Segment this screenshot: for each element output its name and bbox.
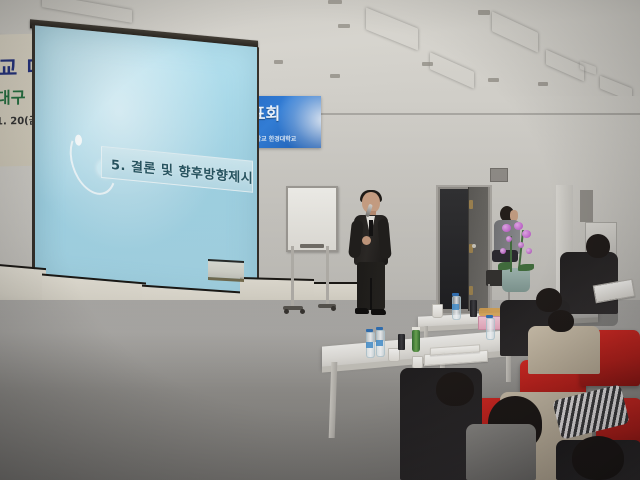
slide-title-band: 5. 결론 및 향후방향제시: [101, 146, 253, 193]
orchid-plant: [492, 222, 540, 292]
paper-cup[interactable]: [432, 304, 443, 318]
door-hinge: [469, 200, 473, 209]
presenter: [348, 192, 392, 324]
bottle-label: [376, 340, 383, 346]
whiteboard[interactable]: [286, 186, 338, 252]
presenter-shoe: [355, 308, 369, 314]
ceiling-vent: [330, 74, 340, 78]
audience-coat: [528, 326, 600, 374]
orchid-flower: [506, 236, 512, 242]
audience-head: [548, 310, 574, 332]
wall-speaker: [490, 168, 508, 182]
orchid-leaf: [518, 264, 534, 271]
presenter-leg-split: [370, 278, 372, 310]
bottle-cap: [376, 327, 383, 330]
door-hinge: [469, 286, 473, 295]
chair-leg: [488, 284, 490, 310]
ceiling-light-fixture: [430, 52, 474, 89]
slide-dot-graphic: [75, 134, 82, 146]
bottle-label: [452, 304, 459, 310]
whiteboard-leg: [291, 246, 294, 308]
audience-head: [536, 288, 562, 312]
bottle-cap: [412, 327, 420, 330]
presenter-shoe: [371, 309, 386, 315]
ceiling-vent: [328, 0, 342, 4]
paper-cup[interactable]: [388, 348, 400, 362]
bottle-cap: [366, 329, 373, 332]
audience-head: [572, 436, 624, 480]
bottle-cap: [486, 315, 493, 318]
door-knob[interactable]: [472, 244, 476, 248]
orchid-leaf: [498, 262, 512, 270]
bottle-cap: [452, 293, 459, 296]
ceiling-vent: [478, 10, 490, 15]
orchid-flower: [500, 248, 506, 254]
ceiling-vent: [338, 24, 350, 28]
presenter-hand: [362, 236, 371, 245]
whiteboard-caster: [331, 306, 336, 311]
ceiling-vent: [488, 78, 499, 82]
dark-can[interactable]: [398, 334, 405, 350]
ceiling-light-fixture: [42, 0, 132, 23]
orchid-flower: [522, 230, 531, 238]
doorway-opening: [440, 189, 470, 309]
whiteboard-marker-tray: [300, 244, 324, 248]
audience-head: [436, 372, 474, 406]
ceiling-light-fixture: [492, 11, 538, 52]
bottle-label: [366, 342, 373, 348]
ceiling-light-fixture: [546, 50, 584, 82]
orchid-flower: [502, 224, 511, 232]
orchid-flower: [518, 242, 524, 248]
whiteboard-caster: [284, 309, 289, 314]
ceiling-vent: [422, 62, 433, 66]
presenter-right-arm: [377, 219, 391, 260]
whiteboard-caster: [300, 309, 305, 314]
plant-pot: [502, 268, 530, 292]
ceiling-vent: [274, 60, 283, 64]
slide-title-text: 5. 결론 및 향후방향제시: [102, 152, 253, 186]
orchid-flower: [526, 248, 532, 254]
whiteboard-leg: [326, 246, 329, 306]
dark-can[interactable]: [470, 300, 477, 317]
audience-coat: [466, 424, 536, 480]
water-bottle[interactable]: [486, 318, 495, 340]
ceiling-vent: [538, 82, 548, 86]
baseboard-heater: [208, 259, 244, 282]
orchid-flower: [514, 222, 523, 230]
presenter-necktie: [369, 220, 373, 236]
wall-panel: [580, 190, 593, 222]
conference-room-photo: 교 대 대구 · 1. 20(금) 1 발표회 표회 대구대학교 한경대학교 5…: [0, 0, 640, 480]
green-bottle[interactable]: [412, 330, 420, 352]
ceiling-light-fixture: [366, 7, 418, 50]
audience-head: [586, 234, 610, 258]
